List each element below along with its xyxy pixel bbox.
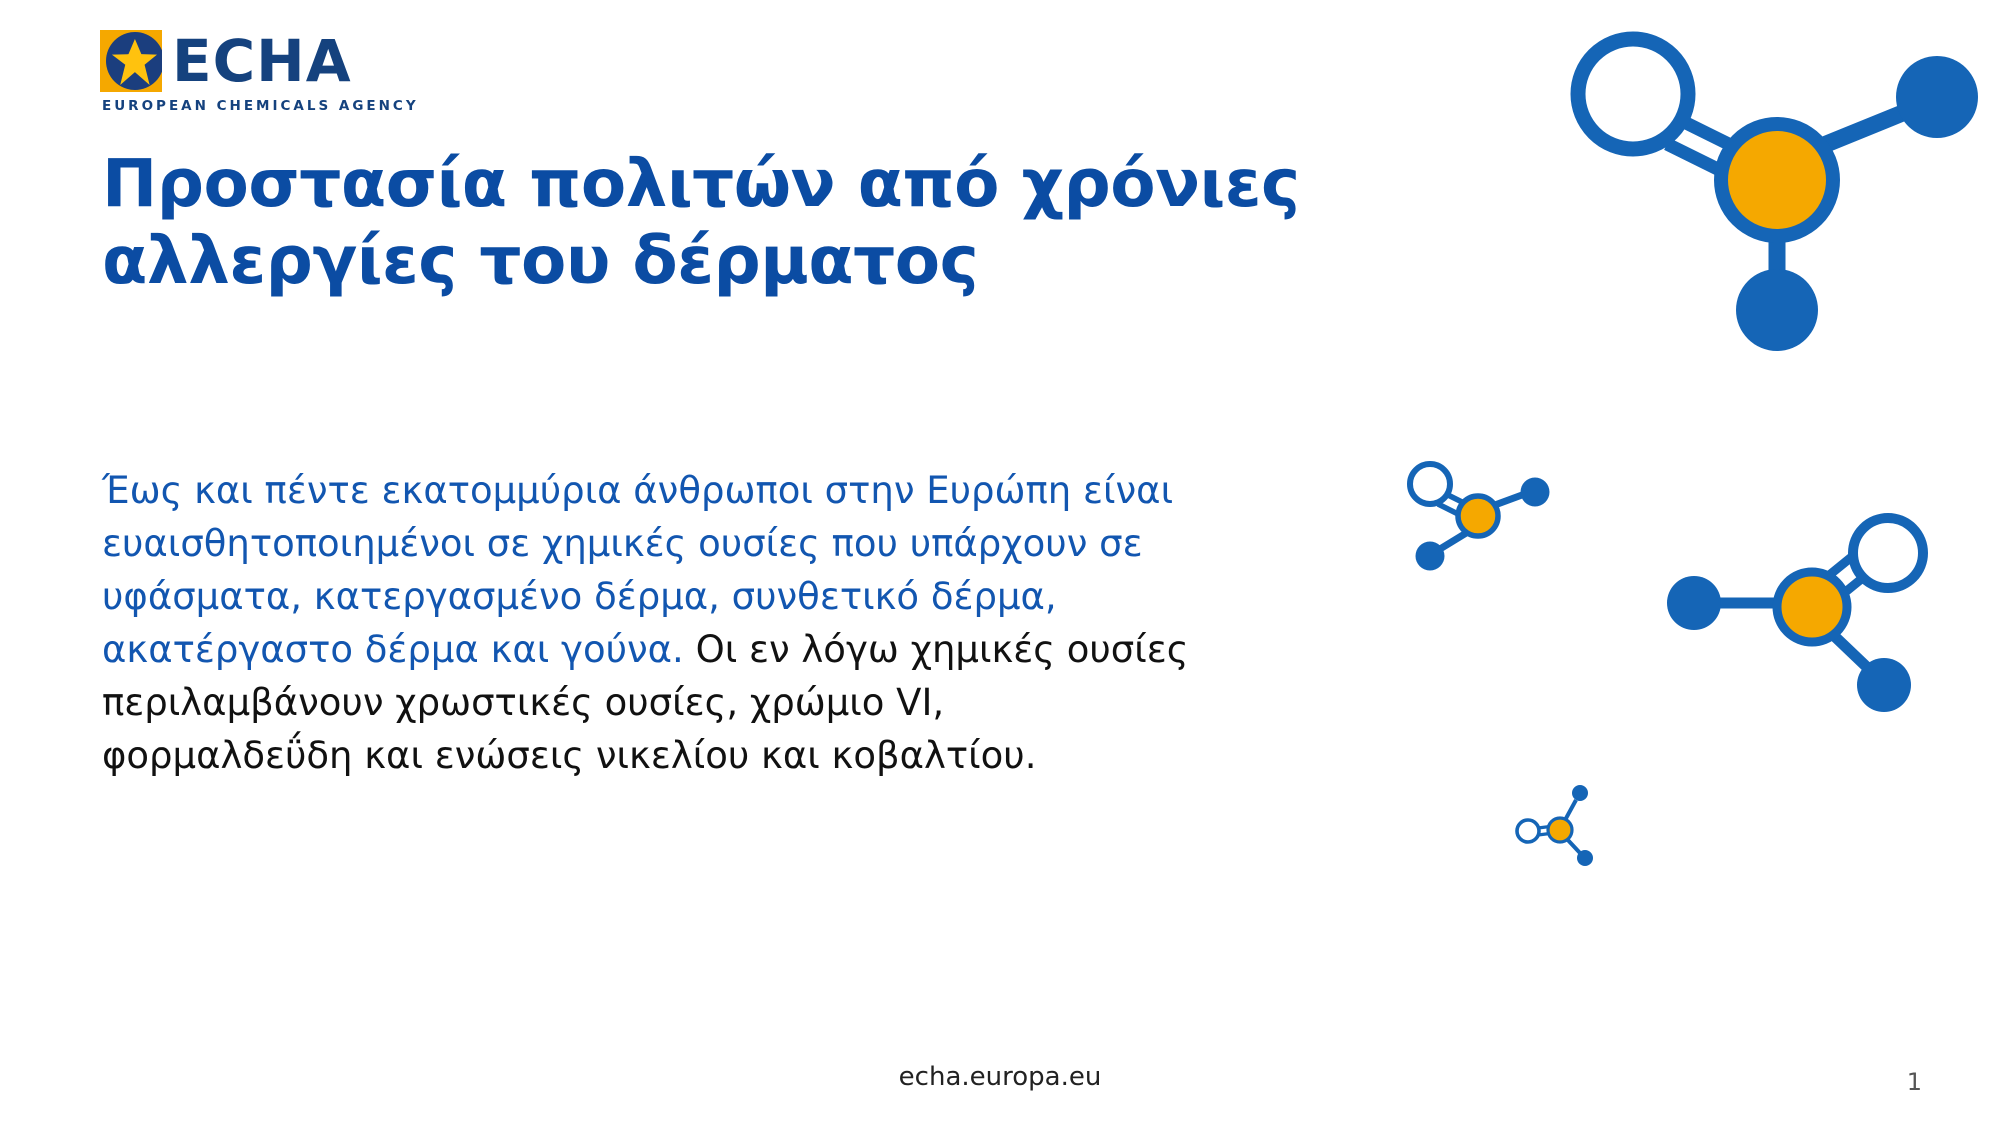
atom-hollow (1853, 518, 1923, 588)
page-title: Προστασία πολιτών από χρόνιες αλλεργίες … (102, 145, 1522, 299)
atom-center-orange (1721, 124, 1833, 236)
footer-url[interactable]: echa.europa.eu (0, 1062, 2000, 1092)
body-paragraph: Έως και πέντε εκατομμύρια άνθρωποι στην … (102, 465, 1202, 782)
atom-solid-right (1896, 56, 1978, 138)
echa-logo: ECHA EUROPEAN CHEMICALS AGENCY (100, 30, 470, 120)
atom-solid-bottom (1736, 269, 1818, 351)
atom-center-orange (1777, 572, 1847, 642)
atom-solid-right (1521, 478, 1550, 507)
atom-solid-left (1667, 576, 1721, 630)
atom-solid-bottom (1416, 542, 1445, 571)
logo-row: ECHA (100, 30, 470, 92)
logo-wordmark: ECHA (172, 31, 352, 91)
atom-center-orange (1458, 496, 1498, 536)
atom-solid-top (1572, 785, 1588, 801)
slide-root: ECHA EUROPEAN CHEMICALS AGENCY Προστασία… (0, 0, 2000, 1125)
atom-solid-bottom (1857, 658, 1911, 712)
atom-solid-bottom (1577, 850, 1593, 866)
molecule-small-middle-left (1400, 455, 1570, 595)
molecule-medium-middle-right (1660, 520, 1930, 730)
atom-hollow (1410, 464, 1450, 504)
echa-star-mark-icon (100, 30, 162, 92)
title-line-1: Προστασία πολιτών από χρόνιες (102, 145, 1300, 222)
logo-tagline: EUROPEAN CHEMICALS AGENCY (102, 98, 470, 114)
title-line-2: αλλεργίες του δέρματος (102, 222, 978, 299)
atom-hollow (1578, 39, 1688, 149)
atom-center-orange (1548, 818, 1572, 842)
page-number: 1 (1907, 1068, 1922, 1096)
molecule-tiny-bottom (1510, 780, 1620, 870)
atom-hollow (1517, 820, 1539, 842)
molecule-large-top-right (1555, 10, 2000, 340)
